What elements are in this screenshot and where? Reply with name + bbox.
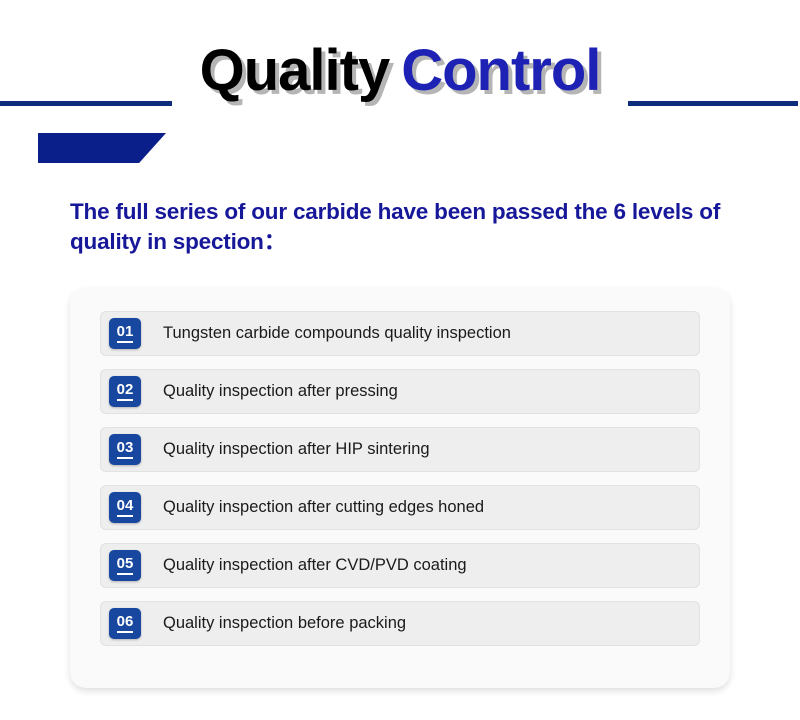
step-label: Quality inspection after cutting edges h… (163, 498, 484, 517)
page-title-word-control: Control (401, 38, 600, 103)
step-number-label: 05 (117, 556, 134, 575)
subheading-text: The full series of our carbide have been… (70, 197, 760, 257)
step-label: Quality inspection before packing (163, 614, 406, 633)
step-number-badge: 06 (109, 608, 141, 639)
inspection-steps-list: 01 Tungsten carbide compounds quality in… (100, 311, 700, 646)
step-number-badge: 02 (109, 376, 141, 407)
step-number-label: 04 (117, 498, 134, 517)
inspection-steps-panel: 01 Tungsten carbide compounds quality in… (70, 288, 730, 688)
step-label: Quality inspection after CVD/PVD coating (163, 556, 467, 575)
step-label: Tungsten carbide compounds quality inspe… (163, 324, 511, 343)
list-item[interactable]: 05 Quality inspection after CVD/PVD coat… (100, 543, 700, 588)
list-item[interactable]: 03 Quality inspection after HIP sinterin… (100, 427, 700, 472)
step-number-badge: 01 (109, 318, 141, 349)
list-item[interactable]: 01 Tungsten carbide compounds quality in… (100, 311, 700, 356)
list-item[interactable]: 06 Quality inspection before packing (100, 601, 700, 646)
step-number-badge: 03 (109, 434, 141, 465)
page-title-word-quality: Quality (200, 38, 390, 103)
accent-parallelogram (38, 133, 166, 163)
list-item[interactable]: 02 Quality inspection after pressing (100, 369, 700, 414)
step-number-label: 02 (117, 382, 134, 401)
page-title: QualityControl (0, 32, 800, 110)
step-number-badge: 05 (109, 550, 141, 581)
step-number-label: 06 (117, 614, 134, 633)
step-number-label: 03 (117, 440, 134, 459)
page-title-banner: QualityControl (0, 32, 800, 110)
step-number-label: 01 (117, 324, 134, 343)
list-item[interactable]: 04 Quality inspection after cutting edge… (100, 485, 700, 530)
step-number-badge: 04 (109, 492, 141, 523)
step-label: Quality inspection after pressing (163, 382, 398, 401)
step-label: Quality inspection after HIP sintering (163, 440, 430, 459)
